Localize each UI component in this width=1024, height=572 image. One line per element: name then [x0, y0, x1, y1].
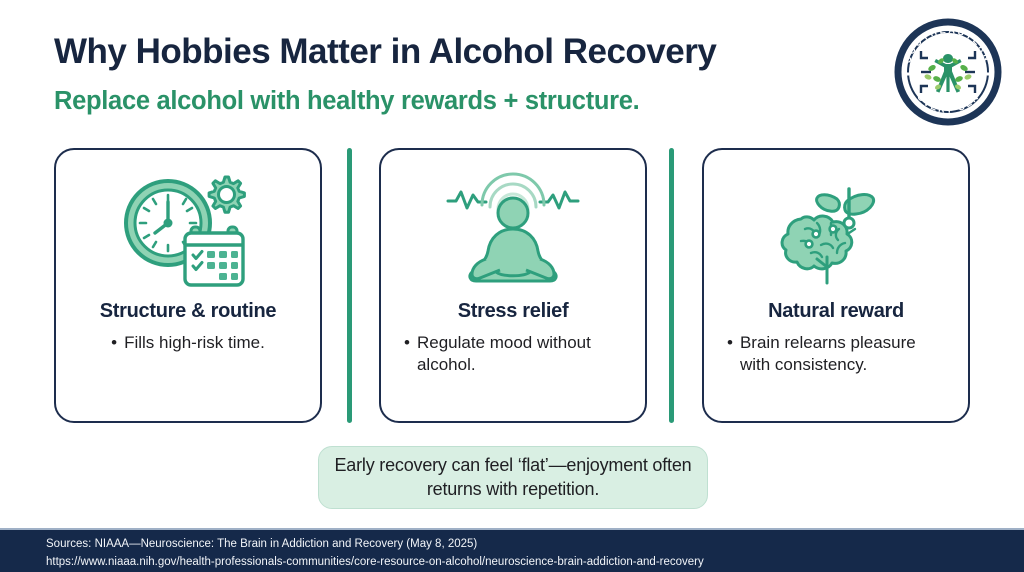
- page-subtitle: Replace alcohol with healthy rewards + s…: [54, 87, 639, 116]
- bullet-dot-icon: •: [111, 332, 117, 354]
- card-bullets: • Brain relearns pleasure with consisten…: [704, 332, 968, 376]
- card-bullet-item: • Brain relearns pleasure with consisten…: [718, 332, 954, 376]
- card-bullet-item: • Regulate mood without alcohol.: [395, 332, 631, 376]
- card-bullet-text: Brain relearns pleasure with consistency…: [740, 332, 945, 376]
- southeastern-recovery-center-logo: SOUTHEASTERN RECOVERY CENTER: [894, 18, 1002, 126]
- card-title: Stress relief: [458, 300, 569, 323]
- divider-between-card-1-and-2: [347, 148, 352, 423]
- callout-box: Early recovery can feel ‘flat’—enjoyment…: [318, 446, 708, 509]
- divider-between-card-2-and-3: [669, 148, 674, 423]
- card-natural-reward[interactable]: Natural reward • Brain relearns pleasure…: [702, 148, 970, 423]
- bullet-dot-icon: •: [727, 332, 733, 376]
- card-title: Structure & routine: [100, 300, 277, 323]
- card-bullets: • Regulate mood without alcohol.: [381, 332, 645, 376]
- footer-source-line: Sources: NIAAA—Neuroscience: The Brain i…: [46, 536, 1024, 554]
- card-bullets: • Fills high-risk time.: [56, 332, 320, 354]
- page-title: Why Hobbies Matter in Alcohol Recovery: [54, 32, 716, 72]
- footer-source-url[interactable]: https://www.niaaa.nih.gov/health-profess…: [46, 554, 1024, 572]
- bullet-dot-icon: •: [404, 332, 410, 376]
- card-bullet-text: Regulate mood without alcohol.: [417, 332, 622, 376]
- footer-sources: Sources: NIAAA—Neuroscience: The Brain i…: [0, 528, 1024, 572]
- card-bullet-item: • Fills high-risk time.: [70, 332, 306, 354]
- card-structure-routine[interactable]: Structure & routine • Fills high-risk ti…: [54, 148, 322, 423]
- brain-sprout-icon: [761, 170, 911, 292]
- card-bullet-text: Fills high-risk time.: [124, 332, 265, 354]
- meditating-person-icon: [438, 170, 588, 292]
- callout-text: Early recovery can feel ‘flat’—enjoyment…: [319, 454, 707, 501]
- infographic-root: Why Hobbies Matter in Alcohol Recovery R…: [0, 0, 1024, 572]
- card-title: Natural reward: [768, 300, 904, 323]
- card-stress-relief[interactable]: Stress relief • Regulate mood without al…: [379, 148, 647, 423]
- cards-row: Structure & routine • Fills high-risk ti…: [0, 148, 1024, 423]
- clock-gear-calendar-icon: [113, 170, 263, 292]
